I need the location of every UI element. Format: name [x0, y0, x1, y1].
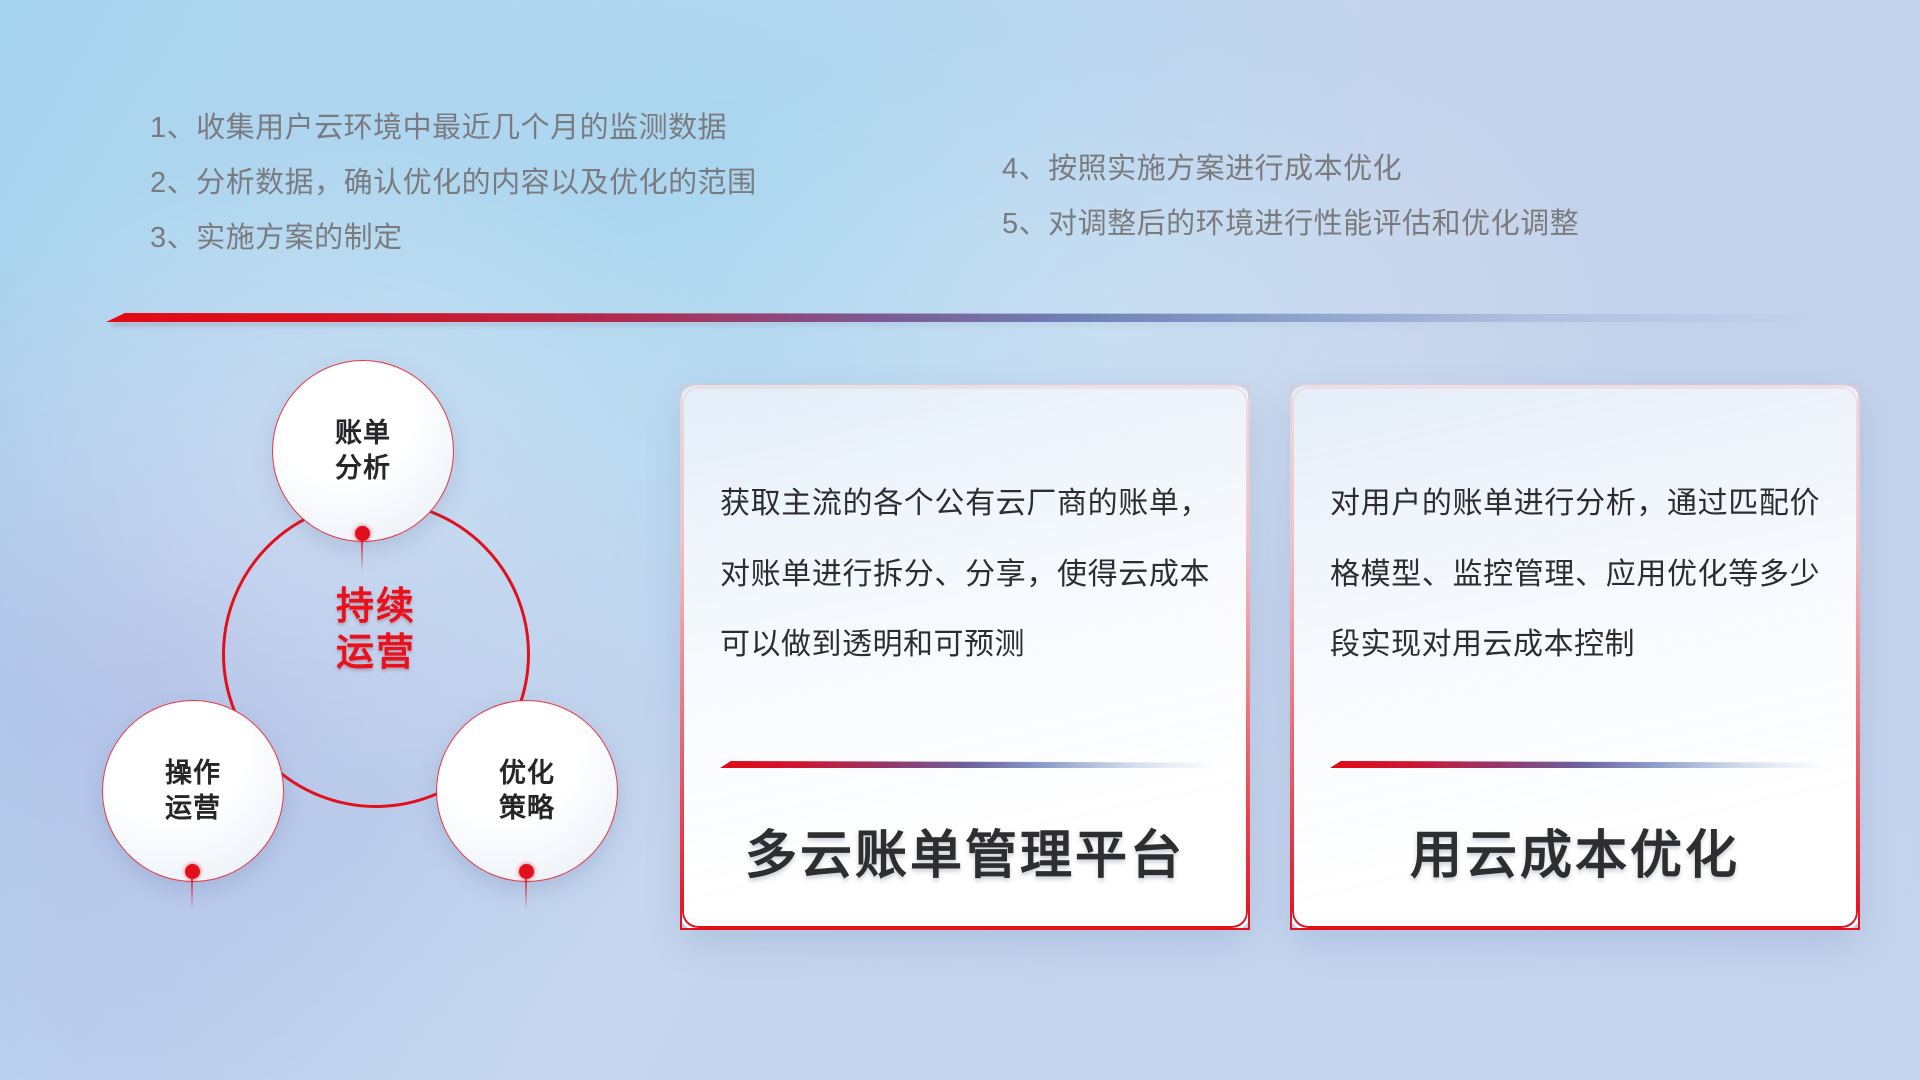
step-item: 5、对调整后的环境进行性能评估和优化调整 — [1002, 210, 1579, 239]
center-label: 持续 运营 — [222, 584, 530, 677]
steps-list-left: 1、收集用户云环境中最近几个月的监测数据 2、分析数据，确认优化的内容以及优化的… — [150, 114, 757, 279]
bubble-label-line-2: 运营 — [165, 791, 221, 826]
step-item: 2、分析数据，确认优化的内容以及优化的范围 — [150, 169, 757, 198]
node-dot-icon — [519, 864, 534, 879]
step-item: 3、实施方案的制定 — [150, 224, 757, 253]
node-stem-icon — [191, 876, 193, 910]
venn-bubble-billing-analysis[interactable]: 账单 分析 — [272, 360, 454, 542]
header-gradient-divider — [106, 313, 1818, 322]
step-item: 4、按照实施方案进行成本优化 — [1002, 155, 1579, 184]
info-card-multicloud-billing[interactable]: 获取主流的各个公有云厂商的账单，对账单进行拆分、分享，使得云成本可以做到透明和可… — [680, 385, 1250, 930]
bubble-label-line-1: 操作 — [165, 756, 221, 791]
bubble-label-line-2: 分析 — [335, 451, 391, 486]
divider-shadow — [112, 322, 1812, 326]
center-label-line-2: 运营 — [222, 630, 530, 676]
node-dot-icon — [185, 864, 200, 879]
card-body-text: 获取主流的各个公有云厂商的账单，对账单进行拆分、分享，使得云成本可以做到透明和可… — [720, 469, 1210, 681]
node-dot-icon — [355, 526, 370, 541]
card-body-text: 对用户的账单进行分析，通过匹配价格模型、监控管理、应用优化等多少段实现对用云成本… — [1330, 469, 1820, 681]
slide-canvas: 1、收集用户云环境中最近几个月的监测数据 2、分析数据，确认优化的内容以及优化的… — [0, 0, 1920, 1080]
card-gradient-divider — [720, 761, 1214, 768]
venn-bubble-operations[interactable]: 操作 运营 — [102, 700, 284, 882]
venn-bubble-optimization-strategy[interactable]: 优化 策略 — [436, 700, 618, 882]
node-stem-icon — [525, 876, 527, 910]
info-card-cloud-cost-optimization[interactable]: 对用户的账单进行分析，通过匹配价格模型、监控管理、应用优化等多少段实现对用云成本… — [1290, 385, 1860, 930]
card-title: 多云账单管理平台 — [682, 813, 1248, 888]
center-label-line-1: 持续 — [222, 584, 530, 630]
step-item: 1、收集用户云环境中最近几个月的监测数据 — [150, 114, 757, 143]
bubble-label-line-2: 策略 — [499, 791, 555, 826]
venn-diagram: 持续 运营 账单 分析 操作 运营 优化 策略 — [96, 352, 656, 952]
card-title: 用云成本优化 — [1292, 813, 1858, 888]
card-gradient-divider — [1330, 761, 1824, 768]
bubble-label-line-1: 账单 — [335, 416, 391, 451]
bubble-label-line-1: 优化 — [499, 756, 555, 791]
steps-list-right: 4、按照实施方案进行成本优化 5、对调整后的环境进行性能评估和优化调整 — [1002, 155, 1579, 265]
node-stem-icon — [361, 538, 363, 572]
